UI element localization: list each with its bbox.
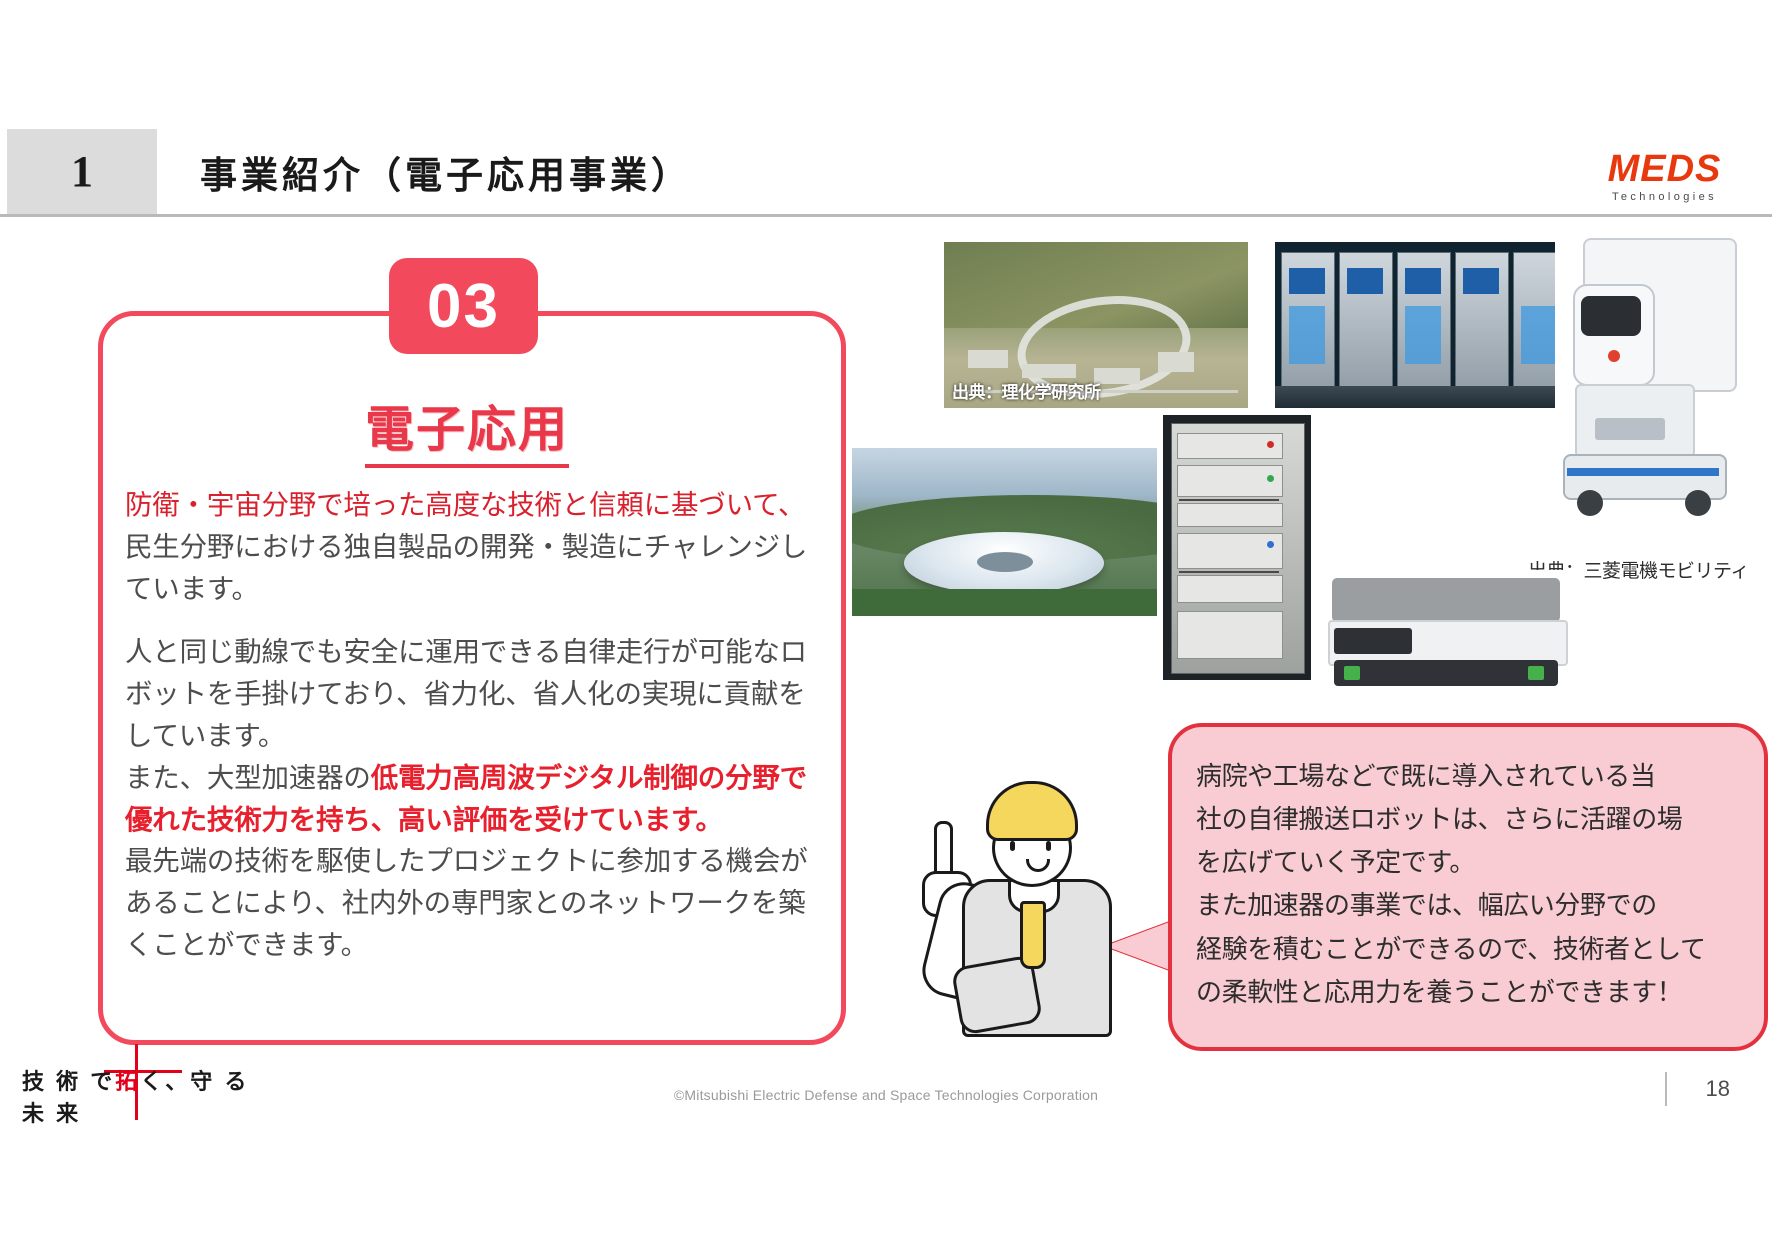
- page-title: 事業紹介（電子応用事業）: [200, 129, 692, 214]
- card-title: 電子応用: [98, 390, 836, 468]
- agv-sensor-bay: [1334, 628, 1412, 654]
- robot-wheel-right: [1685, 490, 1711, 516]
- illustration-person: [900, 775, 1130, 1045]
- rack-screen-1: [1289, 268, 1325, 294]
- photo-equipment-rack: [1163, 415, 1311, 680]
- photo-aerial-building-4: [1158, 352, 1194, 372]
- rack-led-red: [1267, 441, 1274, 448]
- person-necktie: [1020, 901, 1046, 969]
- copyright-notice: ©Mitsubishi Electric Defense and Space T…: [0, 1087, 1772, 1103]
- paragraph-3: また、大型加速器の低電力高周波デジタル制御の分野で優れた技術力を持ち、高い評価を…: [125, 757, 815, 841]
- agv-chassis: [1334, 660, 1558, 686]
- paragraph-1: 防衛・宇宙分野で培った高度な技術と信頼に基づいて、民生分野における独自製品の開発…: [125, 484, 815, 609]
- rack-screen-2: [1347, 268, 1383, 294]
- page-number: 18: [1706, 1076, 1730, 1102]
- callout-line-2: 社の自律搬送ロボットは、さらに活躍の場: [1196, 798, 1741, 841]
- rack-screen-4: [1463, 268, 1499, 294]
- photo-service-robot: [1555, 232, 1765, 532]
- rack-glow-2: [1405, 306, 1441, 364]
- spring8-courtyard: [977, 552, 1033, 572]
- photo-control-racks: [1275, 242, 1575, 408]
- callout-line-5: 経験を積むことができるので、技術者として: [1196, 928, 1741, 971]
- rack-screen-3: [1405, 268, 1441, 294]
- rack-cable-2: [1179, 571, 1279, 573]
- rack-glow-1: [1289, 306, 1325, 364]
- person-eye-left: [1010, 841, 1015, 851]
- section-badge: 03: [389, 258, 538, 354]
- spring8-foreground: [852, 589, 1157, 616]
- page-number-divider: [1665, 1072, 1667, 1106]
- photo-spring8-building: [852, 448, 1157, 616]
- paragraph-4: 最先端の技術を駆使したプロジェクトに参加する機会があることにより、社内外の専門家…: [125, 840, 815, 965]
- robot-face-screen: [1581, 296, 1641, 336]
- photo-aerial-building-2: [1022, 364, 1076, 378]
- card-body: 防衛・宇宙分野で培った高度な技術と信頼に基づいて、民生分野における独自製品の開発…: [125, 484, 815, 966]
- rack-led-green: [1267, 475, 1274, 482]
- rack-led-blue: [1267, 541, 1274, 548]
- person-eye-right: [1046, 841, 1051, 851]
- person-hair: [986, 781, 1078, 841]
- photo-agv-robot: [1318, 570, 1574, 702]
- paragraph-2: 人と同じ動線でも安全に運用できる自律走行が可能なロボットを手掛けており、省力化、…: [125, 631, 815, 756]
- photo-aerial-accelerator: 出典：理化学研究所: [944, 242, 1248, 408]
- slide-canvas: 1 事業紹介（電子応用事業） MEDS Technologies 03 電子応用…: [0, 0, 1772, 1250]
- logo-wordmark: MEDS: [1577, 150, 1752, 188]
- photo-aerial-building-1: [968, 350, 1008, 368]
- slide-header: 1 事業紹介（電子応用事業）: [0, 129, 1772, 214]
- agv-top-deck: [1332, 578, 1560, 622]
- robot-control-panel: [1595, 418, 1665, 440]
- logo-tagline: Technologies: [1577, 191, 1752, 203]
- callout-line-6: の柔軟性と応用力を養うことができます！: [1196, 971, 1741, 1014]
- callout-line-3: を広げていく予定です。: [1196, 841, 1741, 884]
- callout-text: 病院や工場などで既に導入されている当 社の自律搬送ロボットは、さらに活躍の場 を…: [1196, 755, 1741, 1014]
- photo-caption-riken: 出典：理化学研究所: [952, 378, 1101, 403]
- card-title-text: 電子応用: [365, 390, 569, 468]
- agv-status-light-left: [1344, 666, 1360, 680]
- robot-light-stripe: [1567, 468, 1719, 476]
- rack-unit-5: [1177, 575, 1283, 603]
- rack-floor: [1275, 386, 1575, 408]
- photo-aerial-building-3: [1094, 368, 1140, 384]
- rack-cable-1: [1179, 499, 1279, 501]
- paragraph-3-seg-0: また、大型加速器の: [125, 762, 371, 793]
- callout-line-4: また加速器の事業では、幅広い分野での: [1196, 884, 1741, 927]
- rack-unit-3: [1177, 503, 1283, 527]
- paragraph-1-seg-1: 民生分野における独自製品の開発・製造にチャレンジしています。: [125, 531, 807, 604]
- rack-unit-4: [1177, 533, 1283, 569]
- section-number: 1: [7, 129, 157, 214]
- meds-logo: MEDS Technologies: [1577, 150, 1752, 203]
- robot-wheel-left: [1577, 490, 1603, 516]
- agv-status-light-right: [1528, 666, 1544, 680]
- callout-line-1: 病院や工場などで既に導入されている当: [1196, 755, 1741, 798]
- rack-unit-6: [1177, 611, 1283, 659]
- rack-glow-3: [1521, 306, 1557, 364]
- robot-indicator-dot: [1608, 350, 1620, 362]
- header-divider: [0, 214, 1772, 217]
- paragraph-1-seg-0: 防衛・宇宙分野で培った高度な技術と信頼に基づいて、: [125, 489, 805, 520]
